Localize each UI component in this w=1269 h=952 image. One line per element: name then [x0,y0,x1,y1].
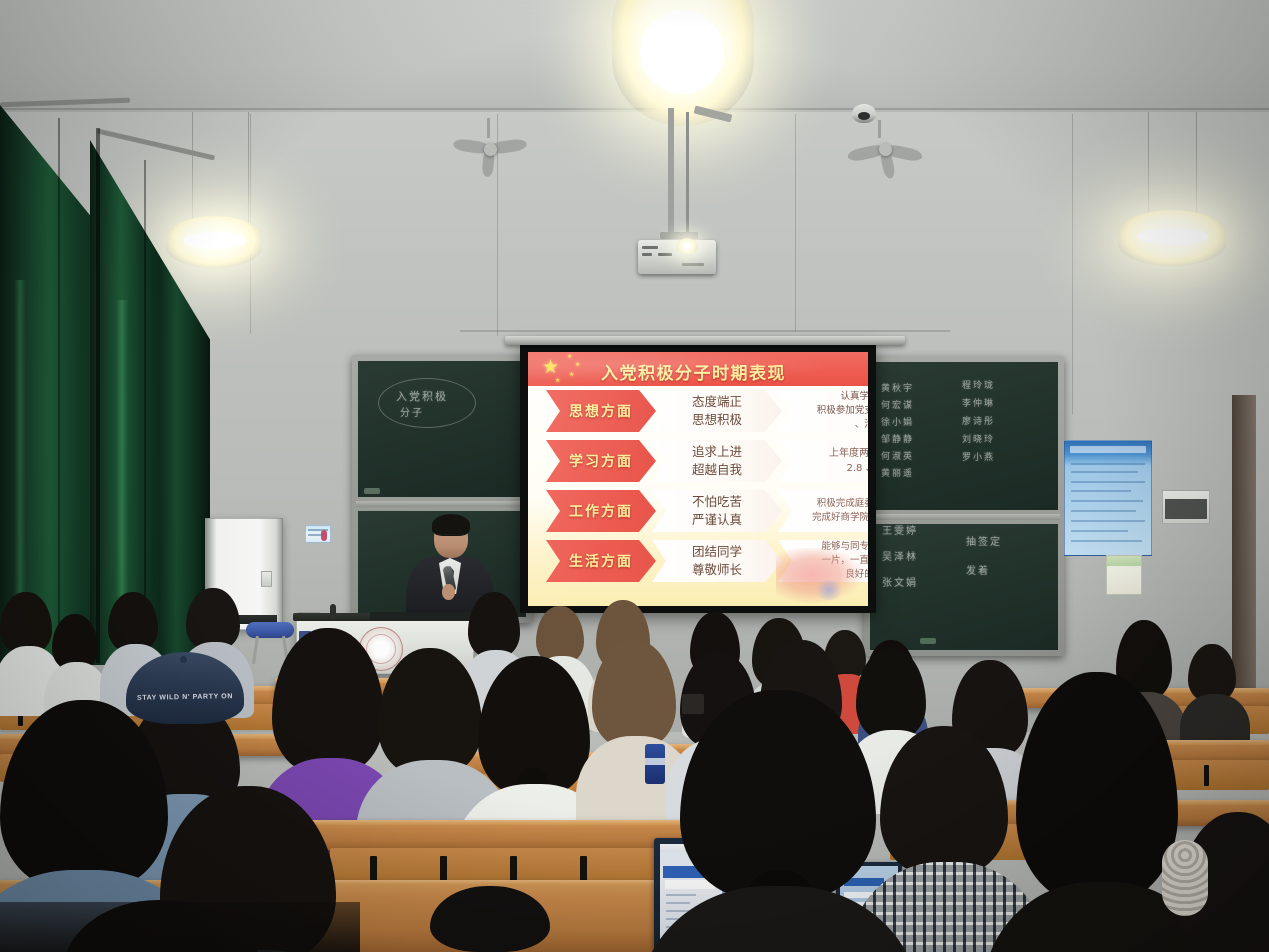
security-camera-lens [858,112,870,120]
fluorescent-light-left-core [184,232,246,249]
presentation-slide: ★ ★ ★ ★ ★ 入党积极分子时期表现 思想方面 态度端正 思想积极 认真学习… [528,352,868,606]
projector-bracket [660,232,698,239]
slide-row-summary: 态度端正 思想积极 [652,390,782,432]
desk-edge [280,820,700,825]
slide-header: ★ ★ ★ ★ ★ 入党积极分子时期表现 [528,352,868,386]
lectern-monitor-edge [370,612,478,620]
wall-seam-3 [795,114,796,332]
chalk-text-left-1: 入党积极 [396,388,448,404]
chalk-name: 徐小娟 [881,415,914,428]
chalk-name: 吴泽林 [882,548,918,563]
lecture-hall-photo: 入党积极 分子 黄秋宇 何宏谋 徐小娟 邹静静 何淑英 黄丽遥 程玲珑 李仲琳 … [0,0,1269,952]
slide-row: 思想方面 态度端正 思想积极 认真学习党章 积极参加党支部各项会议 、活动 [528,388,868,436]
curtain-fold [96,128,100,663]
chalk-name: 李仲琳 [962,396,995,409]
presenter-hand [442,584,455,600]
wall-box-face [1165,499,1207,519]
stool-leg [252,636,259,664]
wall-mounted-box [1162,490,1210,524]
poster-line [1071,463,1145,465]
light-wire-left [192,112,193,230]
notice-header [1107,556,1141,566]
light-wire-left-2 [248,112,249,236]
slide-row-aspect: 思想方面 [546,390,656,432]
bag-on-desk [682,694,704,714]
chalk-name: 邹静静 [881,432,914,445]
slide-row: 工作方面 不怕吃苦 严谨认真 积极完成庭委的任务安排 完成好商学院信息员的工作 [528,488,868,536]
chalk-name: 黄秋宇 [881,381,914,394]
projector-label [682,263,704,266]
presenter-hair [432,514,470,536]
blue-instruction-sign [305,525,331,543]
slide-title: 入党积极分子时期表现 [601,359,786,384]
projector-vent-3 [658,253,672,256]
fluorescent-light-center-core [640,10,724,94]
slide-row-detail: 上年度两学期绩点 2.8 、3.2 [778,440,868,482]
poster-line [1071,510,1136,512]
projector-mount-rod [668,108,674,236]
lectern-microphone [330,604,336,620]
ceiling-fan-right-hub [879,143,892,156]
chalk-eraser-right [920,638,936,644]
poster-line [1071,540,1142,542]
china-map-watermark-accent [814,580,844,600]
slide-row-detail: 认真学习党章 积极参加党支部各项会议 、活动 [778,390,868,432]
poster-line [1071,520,1145,522]
flag-big-star-icon: ★ [542,358,559,377]
door-frame-right [1232,395,1256,695]
fluorescent-light-right-core [1138,228,1208,245]
chalk-name: 何宏谋 [881,398,914,411]
poster-line [1071,471,1138,473]
flag-small-star-icon: ★ [567,354,572,360]
chalk-name: 何淑英 [881,449,914,462]
drink-can [645,744,665,784]
poster-line [1071,481,1145,483]
projector-vent-2 [642,253,652,256]
slide-row-aspect: 工作方面 [546,490,656,532]
slide-row-detail: 积极完成庭委的任务安排 完成好商学院信息员的工作 [778,490,868,532]
can-label-band [645,758,665,765]
green-wall-notice [1106,555,1142,595]
pearl-hair-accessory [1162,840,1208,916]
curtain-fold [58,118,60,663]
curtain-fold [144,160,146,665]
chalk-name: 抽签定 [966,533,1002,548]
bench-slat [1204,765,1209,786]
slide-row-aspect: 生活方面 [546,540,656,582]
poster-line [1071,530,1128,532]
poster-line [1071,500,1143,502]
slide-row-summary: 追求上进 超越自我 [652,440,782,482]
chalk-name: 程玲珑 [962,378,995,391]
blackboard-left-rail [356,501,528,507]
wall-seam-4 [1072,114,1073,414]
stool-seat [246,622,294,638]
projector-vent-1 [642,246,658,249]
slide-row-aspect: 学习方面 [546,440,656,482]
ac-control-panel [261,571,272,587]
slide-row: 学习方面 追求上进 超越自我 上年度两学期绩点 2.8 、3.2 [528,438,868,486]
poster-line [1071,490,1131,492]
blue-notice-poster [1064,440,1152,556]
chalk-eraser-left [364,488,380,494]
ceiling-fan-right [846,132,924,166]
chalk-name: 罗小燕 [962,450,995,463]
security-camera [852,104,876,123]
flag-small-star-icon: ★ [555,378,560,384]
chalk-name: 黄丽遥 [881,466,914,479]
browser-line [666,902,690,904]
projector-mount-rod-2 [686,112,689,234]
projection-screen-housing [505,336,905,345]
chalk-name: 刘晓玲 [962,432,995,445]
ceiling-fan-left [452,132,528,166]
cap-text: STAY WILD N' PARTY ON [126,693,244,702]
desk-row-front [280,820,700,850]
slide-row-summary: 不怕吃苦 严谨认真 [652,490,782,532]
poster-heading-bar [1070,446,1146,453]
sign-line [308,534,321,536]
presenter-glasses [436,534,464,540]
chalk-name: 发着 [966,562,990,577]
chalk-name: 廖诗彤 [962,414,995,427]
chalk-text-left-2: 分子 [400,404,424,419]
projection-screen: ★ ★ ★ ★ ★ 入党积极分子时期表现 思想方面 态度端正 思想积极 认真学习… [520,345,876,613]
projector-lens [676,238,698,254]
ceiling-fan-left-hub [484,143,497,156]
cap-button [180,656,187,663]
wall-ledge [460,330,950,332]
flag-small-star-icon: ★ [569,372,574,378]
blackboard-right-rail [868,514,1060,520]
slide-row-summary: 团结同学 尊敬师长 [652,540,782,582]
flag-small-star-icon: ★ [575,362,580,368]
light-wire-right [1148,112,1149,224]
chalk-name: 张文娟 [882,574,918,589]
sign-person-icon [321,530,327,541]
browser-line [666,894,696,896]
chalk-name: 王雯婷 [882,522,918,537]
